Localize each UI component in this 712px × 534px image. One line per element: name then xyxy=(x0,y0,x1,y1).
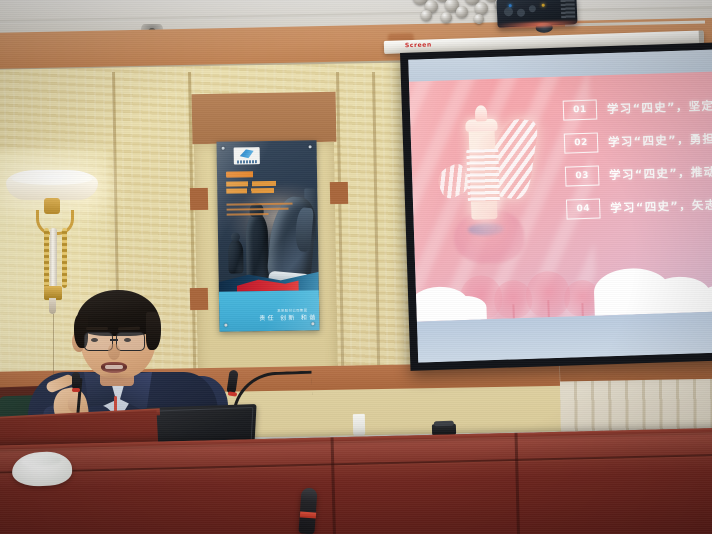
eyeglasses-bridge xyxy=(110,339,118,341)
poster-slogan: 责任 创新 和谐 发展 xyxy=(259,312,319,322)
poster-mount-screw-tl xyxy=(222,147,225,150)
roller-brand-label: Screen xyxy=(405,41,432,49)
presentation-slide: 01 学习“四史”，坚定 02 学习“四史”，勇担 03 学习“四史”，推动 0… xyxy=(409,72,712,322)
presenter-chin-shadow xyxy=(94,372,136,382)
wall-accent-block-3 xyxy=(330,182,348,204)
poster-mount-screw-br xyxy=(311,322,314,325)
wall-poster: 某某股份公司集团 责任 创新 和谐 发展 xyxy=(217,140,320,332)
slide-item-number: 01 xyxy=(563,100,598,121)
podium-front-panel xyxy=(0,427,712,534)
projector-vent-icon xyxy=(560,0,575,19)
slide-tree-row xyxy=(415,246,712,322)
slide-item-text: 学习“四史”，勇担 xyxy=(608,131,712,151)
chandelier-ball xyxy=(456,6,468,18)
chandelier-ball xyxy=(441,12,452,23)
roller-end-cap xyxy=(699,30,704,43)
eyeglasses-lens-right xyxy=(116,332,145,351)
slide-list-item: 04 学习“四史”，矢志 xyxy=(566,195,712,220)
poster-logo-wordmark xyxy=(237,160,257,163)
projector-led-lamp xyxy=(542,4,545,7)
slide-list-item: 01 学习“四史”，坚定 xyxy=(563,96,712,121)
slide-item-text: 学习“四史”，坚定 xyxy=(607,98,712,118)
projector-led-power xyxy=(509,4,512,7)
slide-list-item: 03 学习“四史”，推动 xyxy=(565,162,712,187)
poster-headline xyxy=(226,171,271,178)
photo-scene: 某某股份公司集团 责任 创新 和谐 发展 Screen xyxy=(0,0,712,534)
projector-knob-2 xyxy=(517,9,525,17)
projector-knob-1 xyxy=(504,7,513,16)
projector-knob-3 xyxy=(529,5,536,12)
slide-agenda-list: 01 学习“四史”，坚定 02 学习“四史”，勇担 03 学习“四史”，推动 0… xyxy=(563,96,712,233)
presenter-hair-side-right xyxy=(146,312,161,350)
sconce-bead-left xyxy=(44,228,49,288)
chandelier-ball xyxy=(421,10,432,21)
slide-item-number: 03 xyxy=(565,165,600,186)
sconce-shade xyxy=(6,170,98,200)
presenter-eyebrow-left xyxy=(86,327,108,330)
poster-mount-screw-tr xyxy=(309,145,312,148)
slide-list-item: 02 学习“四史”，勇担 xyxy=(564,129,712,154)
paper-cup xyxy=(353,414,365,436)
chandelier-ball xyxy=(474,14,484,24)
slide-cloud xyxy=(442,295,487,320)
chandelier-ball xyxy=(475,2,488,15)
slide-item-text: 学习“四史”，矢志 xyxy=(610,197,712,217)
slide-item-text: 学习“四史”，推动 xyxy=(609,164,712,184)
presenter-nose xyxy=(108,344,120,360)
poster-subheadline xyxy=(226,181,278,199)
microphone-indicator-left xyxy=(72,388,80,392)
wall-sconce-lamp xyxy=(6,170,102,320)
wall-recess-upper xyxy=(192,92,337,145)
foreground-microphone-ring xyxy=(300,511,316,518)
chess-pawn-1 xyxy=(228,239,244,273)
slide-item-number: 02 xyxy=(564,132,599,153)
poster-logo-icon xyxy=(234,147,260,164)
monument-finial xyxy=(475,105,488,121)
poster-english-text xyxy=(226,203,298,218)
sconce-bead-right xyxy=(62,228,67,288)
screen-surface: 01 学习“四史”，坚定 02 学习“四史”，勇担 03 学习“四史”，推动 0… xyxy=(408,50,712,363)
monument-column-rings xyxy=(466,149,500,202)
wall-accent-block-1 xyxy=(190,188,208,210)
sconce-glass-rod xyxy=(50,228,57,288)
projection-screen: 01 学习“四史”，坚定 02 学习“四史”，勇担 03 学习“四史”，推动 0… xyxy=(400,42,712,372)
slide-item-number: 04 xyxy=(566,198,601,219)
poster-logo-swoosh-icon xyxy=(240,149,254,158)
